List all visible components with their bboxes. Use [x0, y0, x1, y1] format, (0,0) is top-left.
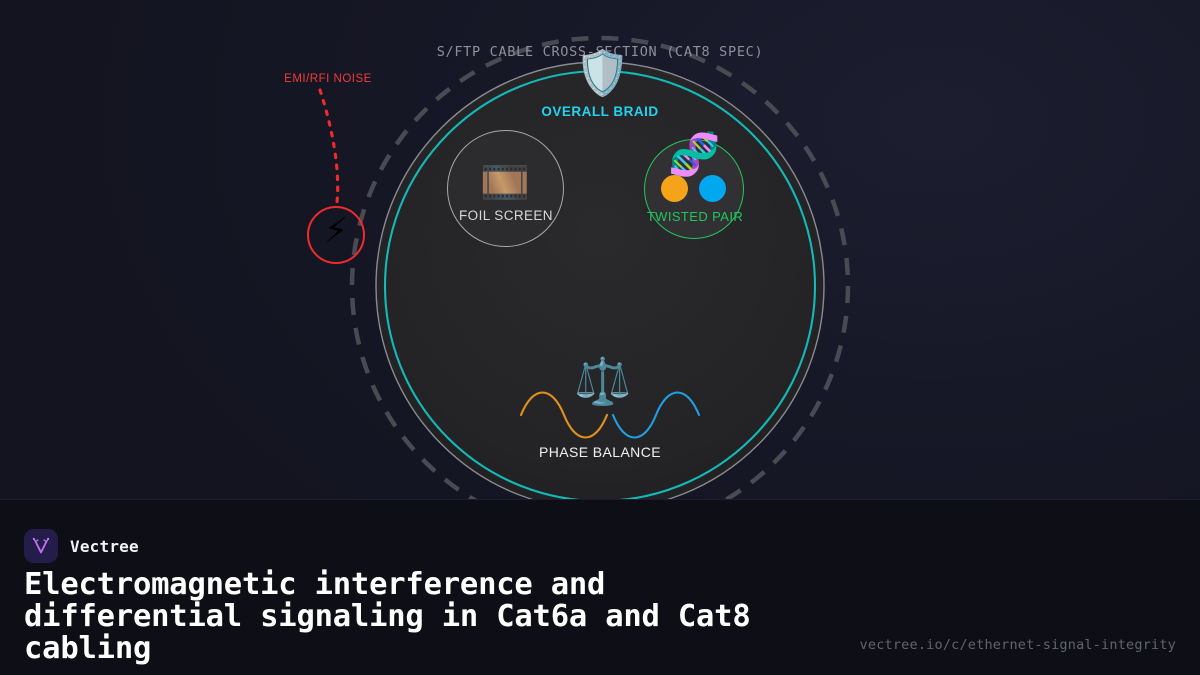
emi-noise-label: EMI/RFI NOISE [228, 73, 428, 85]
shield-icon: 🛡️ [575, 52, 625, 96]
conductor-b-dot [699, 175, 726, 202]
vectree-glyph [30, 535, 52, 557]
brand-row[interactable]: Vectree [24, 529, 139, 563]
brand-name: Vectree [70, 537, 139, 556]
dna-helix-icon: 🧬 [668, 134, 720, 176]
lightning-bolt-icon: ⚡ [313, 214, 359, 248]
inner-sheath-ring [376, 62, 824, 510]
poster-canvas: S/FTP CABLE CROSS-SECTION (CAT8 SPEC) 🛡️… [0, 0, 1200, 675]
cable-cross-section-diagram: S/FTP CABLE CROSS-SECTION (CAT8 SPEC) 🛡️… [0, 0, 1200, 500]
phase-balance-label: PHASE BALANCE [480, 444, 720, 460]
film-frames-icon: 🎞️ [478, 163, 532, 203]
balance-scale-icon: ⚖️ [574, 358, 626, 404]
twisted-pair-label: TWISTED PAIR [575, 209, 815, 224]
footer-url: vectree.io/c/ethernet-signal-integrity [860, 637, 1176, 653]
emi-coupling-path [320, 90, 338, 202]
vectree-logo-icon [24, 529, 58, 563]
overall-braid-label: OVERALL BRAID [480, 104, 720, 119]
footer-bar: Vectree Electromagnetic interference and… [0, 499, 1200, 675]
headline-text: Electromagnetic interference and differe… [24, 569, 824, 665]
conductor-a-dot [661, 175, 688, 202]
